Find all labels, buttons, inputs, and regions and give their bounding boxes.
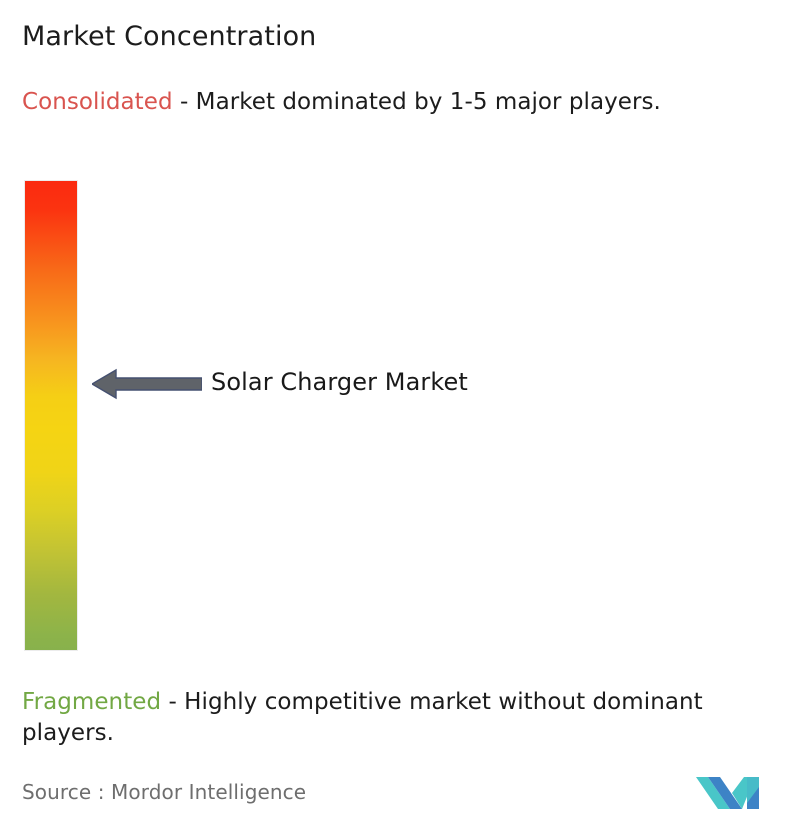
arrow-left-icon xyxy=(92,367,202,401)
legend-consolidated-description: - Market dominated by 1-5 major players. xyxy=(173,89,661,115)
market-concentration-infographic: Market Concentration Consolidated - Mark… xyxy=(0,0,796,834)
concentration-gradient-scale xyxy=(25,181,77,650)
source-attribution: Source : Mordor Intelligence xyxy=(22,779,306,805)
legend-fragmented: Fragmented - Highly competitive market w… xyxy=(22,687,782,749)
legend-consolidated-term: Consolidated xyxy=(22,89,173,115)
page-title: Market Concentration xyxy=(22,20,316,54)
legend-fragmented-term: Fragmented xyxy=(22,689,161,715)
mordor-intelligence-logo xyxy=(694,769,770,811)
market-position-label: Solar Charger Market xyxy=(211,365,468,399)
legend-consolidated: Consolidated - Market dominated by 1-5 m… xyxy=(22,87,782,118)
